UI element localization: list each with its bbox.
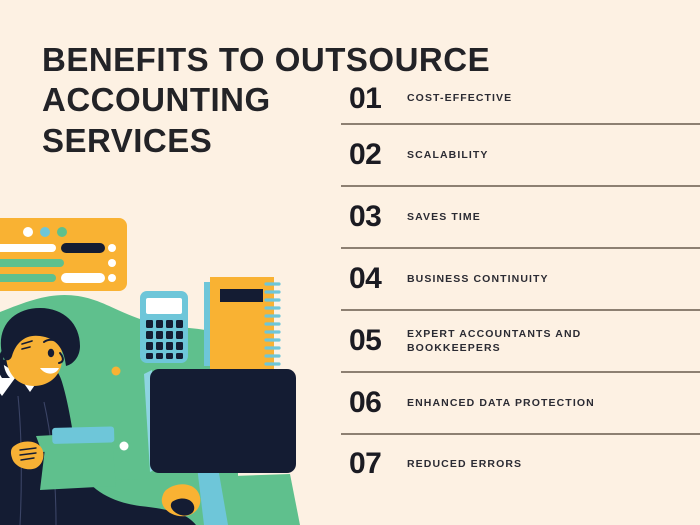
decor-dot: [120, 442, 129, 451]
card-dot-white: [23, 227, 33, 237]
benefit-number: 01: [349, 84, 407, 114]
benefit-label: Enhanced Data Protection: [407, 396, 700, 410]
benefit-number: 06: [349, 388, 407, 418]
decor-dot: [112, 367, 121, 376]
benefit-label: Expert Accountants and Bookkeepers: [407, 327, 700, 355]
benefit-label: Scalability: [407, 148, 700, 162]
benefit-item-05[interactable]: 05 Expert Accountants and Bookkeepers: [341, 311, 700, 373]
person-eye: [48, 349, 54, 357]
card-dot-teal: [40, 227, 50, 237]
benefit-number: 04: [349, 264, 407, 294]
benefit-number: 03: [349, 202, 407, 232]
benefit-item-01[interactable]: 01 Cost-Effective: [341, 74, 700, 125]
benefit-label: Saves Time: [407, 210, 700, 224]
illustration-accountant-workspace: [0, 196, 340, 525]
calculator: [140, 291, 188, 363]
benefit-label: Reduced Errors: [407, 457, 700, 471]
benefit-label: Business Continuity: [407, 272, 700, 286]
benefit-item-06[interactable]: 06 Enhanced Data Protection: [341, 373, 700, 435]
benefits-list: 01 Cost-Effective 02 Scalability 03 Save…: [341, 74, 700, 493]
benefit-number: 07: [349, 449, 407, 479]
benefit-number: 05: [349, 326, 407, 356]
benefit-item-04[interactable]: 04 Business Continuity: [341, 249, 700, 311]
computer-monitor: [144, 369, 296, 473]
benefit-item-02[interactable]: 02 Scalability: [341, 125, 700, 187]
card-dot-green: [57, 227, 67, 237]
spiral-notebook: [204, 277, 279, 369]
orange-ui-card: [0, 218, 127, 291]
benefit-label: Cost-Effective: [407, 91, 700, 105]
benefit-number: 02: [349, 140, 407, 170]
benefit-item-07[interactable]: 07 Reduced Errors: [341, 435, 700, 493]
benefit-item-03[interactable]: 03 Saves Time: [341, 187, 700, 249]
infographic-poster: Benefits to Outsource Accounting Service…: [0, 0, 700, 525]
